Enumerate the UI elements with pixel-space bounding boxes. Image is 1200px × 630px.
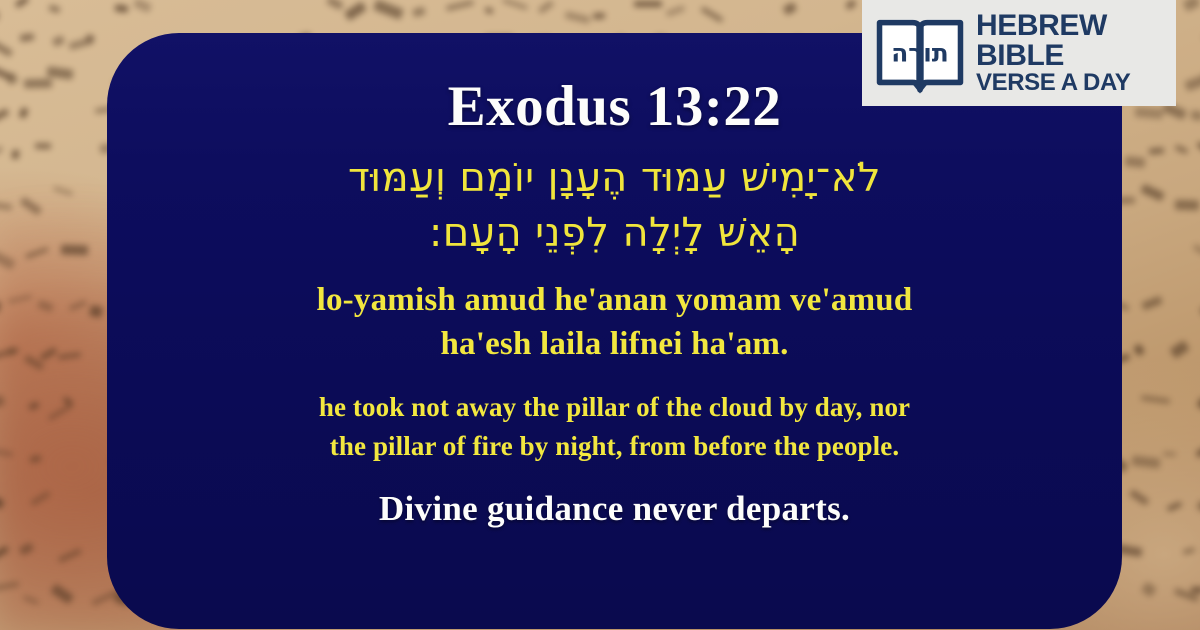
english-translation-line-2: the pillar of fire by night, from before… — [141, 427, 1088, 465]
hebrew-verse-line-1: לֹא־יָמִישׁ עַמּוּד הֶעָנָן יוֹמָם וְעַמ… — [141, 150, 1088, 207]
verse-card: Exodus 13:22 לֹא־יָמִישׁ עַמּוּד הֶעָנָן… — [107, 33, 1122, 629]
brand-line-hebrew: HEBREW — [976, 11, 1130, 41]
english-translation-line-1: he took not away the pillar of the cloud… — [141, 388, 1088, 426]
brand-wordmark: HEBREW BIBLE VERSE A DAY — [976, 11, 1130, 94]
transliteration-line-1: lo-yamish amud he'anan yomam ve'amud — [141, 278, 1088, 322]
transliteration-line-2: ha'esh laila lifnei ha'am. — [141, 322, 1088, 366]
verse-tagline: Divine guidance never departs. — [141, 489, 1088, 529]
brand-logo: תורה HEBREW BIBLE VERSE A DAY — [862, 0, 1176, 106]
open-book-icon: תורה — [874, 10, 966, 96]
brand-line-verse-a-day: VERSE A DAY — [976, 71, 1130, 95]
brand-line-bible: BIBLE — [976, 41, 1130, 71]
book-hebrew-word: תורה — [891, 38, 949, 67]
hebrew-verse-line-2: הָאֵשׁ לָיְלָה לִפְנֵי הָעָם: — [141, 205, 1088, 262]
